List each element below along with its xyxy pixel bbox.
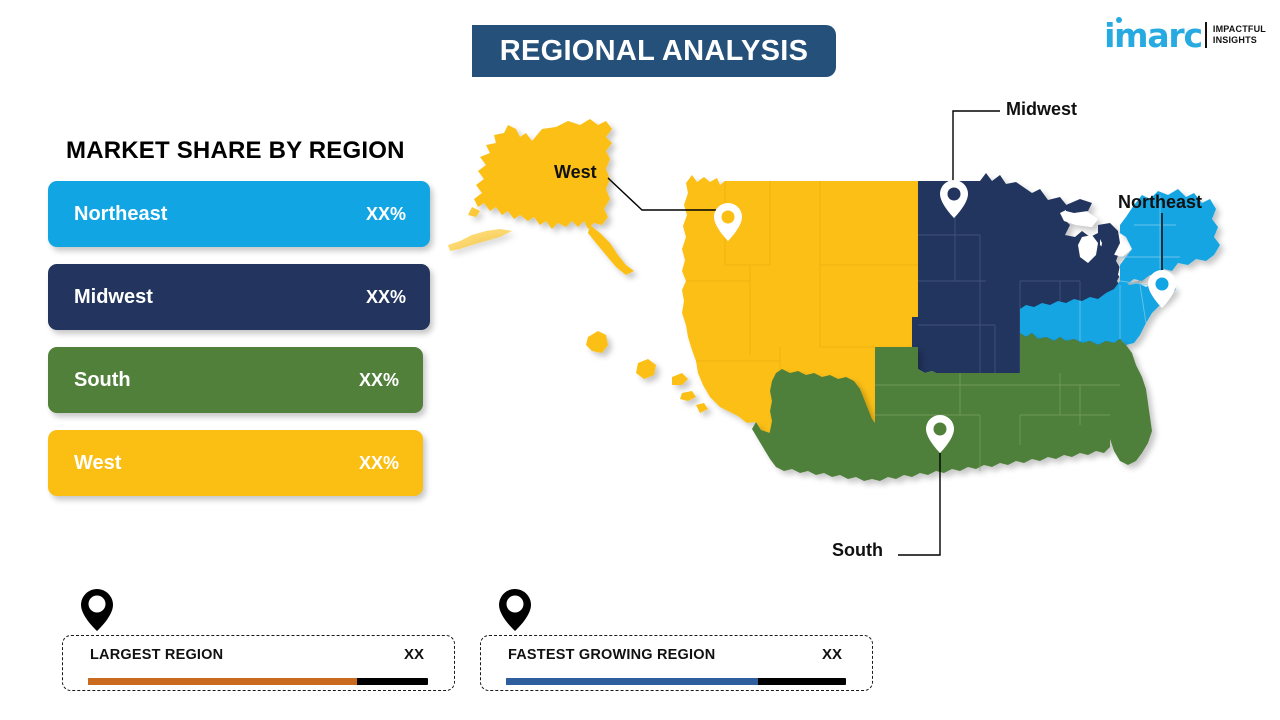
market-share-legend: Northeast XX% Midwest XX% South XX% West…: [48, 181, 430, 513]
largest-region-value: XX: [404, 646, 424, 663]
legend-value-west: XX%: [359, 453, 399, 474]
fastest-growing-region-progress-track: [506, 678, 846, 685]
regional-analysis-slide: REGIONAL ANALYSIS imarc IMPACTFUL INSIGH…: [0, 0, 1280, 720]
legend-bar-midwest[interactable]: Midwest XX%: [48, 264, 430, 330]
map-label-northeast: Northeast: [1118, 192, 1202, 213]
legend-label-west: West: [74, 452, 121, 475]
largest-region-box: LARGEST REGION XX: [62, 635, 455, 691]
market-share-heading: MARKET SHARE BY REGION: [66, 137, 405, 165]
largest-region-title: LARGEST REGION: [90, 647, 223, 663]
legend-value-south: XX%: [359, 370, 399, 391]
fastest-growing-region-box: FASTEST GROWING REGION XX: [480, 635, 873, 691]
legend-label-midwest: Midwest: [74, 286, 153, 309]
largest-region-progress-fill: [88, 678, 357, 685]
logo-wordmark: imarc: [1104, 19, 1202, 52]
fastest-growing-region-progress-fill: [506, 678, 758, 685]
page-title-banner: REGIONAL ANALYSIS: [472, 25, 836, 77]
map-label-south: South: [832, 540, 883, 561]
map-region-hawaii[interactable]: [586, 331, 708, 413]
map-label-midwest: Midwest: [1006, 99, 1077, 120]
fastest-growing-region-value: XX: [822, 646, 842, 663]
imarc-logo: imarc IMPACTFUL INSIGHTS: [1104, 16, 1266, 54]
legend-label-south: South: [74, 369, 131, 392]
logo-tagline-line1: IMPACTFUL: [1213, 24, 1266, 35]
legend-bar-west[interactable]: West XX%: [48, 430, 423, 496]
us-map-svg: [420, 85, 1280, 585]
us-regional-map: [420, 85, 1280, 585]
largest-region-row: LARGEST REGION XX: [63, 636, 454, 670]
legend-value-northeast: XX%: [366, 204, 406, 225]
legend-label-northeast: Northeast: [74, 203, 167, 226]
legend-bar-south[interactable]: South XX%: [48, 347, 423, 413]
fastest-growing-region-title: FASTEST GROWING REGION: [508, 647, 715, 663]
map-pin-icon: [80, 588, 114, 632]
leader-line-midwest: [953, 111, 1000, 185]
logo-divider: [1205, 22, 1207, 48]
logo-tagline: IMPACTFUL INSIGHTS: [1213, 24, 1266, 46]
legend-value-midwest: XX%: [366, 287, 406, 308]
page-title: REGIONAL ANALYSIS: [500, 35, 809, 68]
legend-bar-northeast[interactable]: Northeast XX%: [48, 181, 430, 247]
fastest-growing-region-row: FASTEST GROWING REGION XX: [481, 636, 872, 670]
largest-region-progress-track: [88, 678, 428, 685]
map-pin-icon: [498, 588, 532, 632]
map-region-alaska[interactable]: [448, 119, 634, 275]
logo-tagline-line2: INSIGHTS: [1213, 35, 1266, 46]
map-label-west: West: [554, 162, 597, 183]
